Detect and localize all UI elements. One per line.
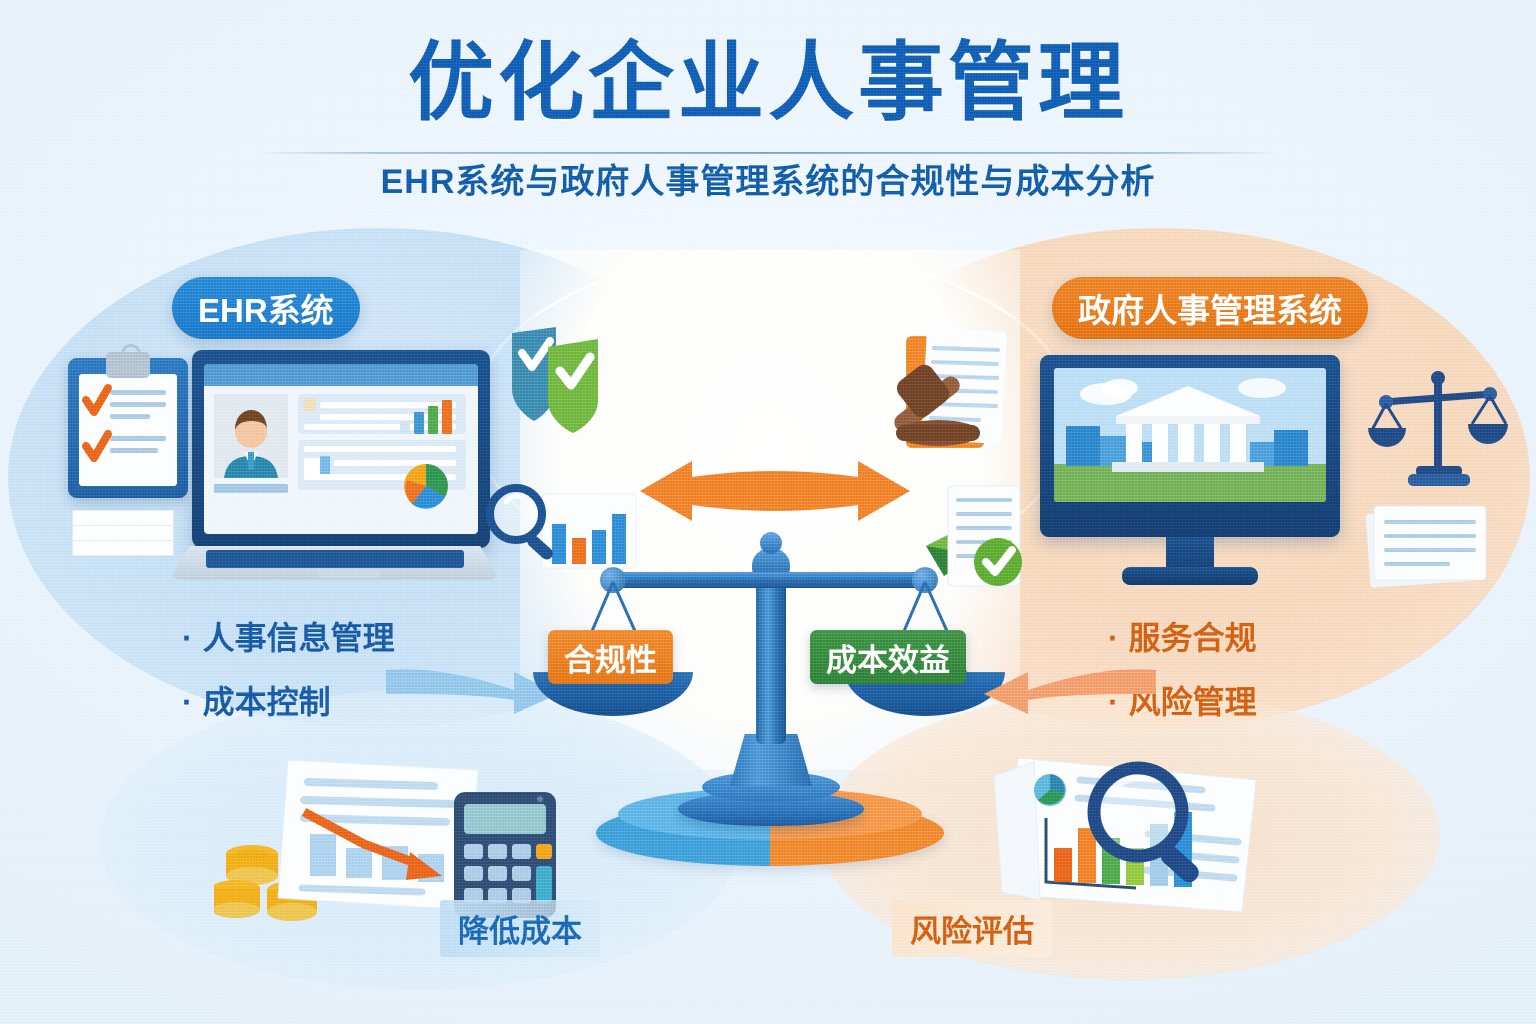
cost-benefit-plate-label: 成本效益 bbox=[826, 635, 950, 680]
shield-check-icon bbox=[498, 325, 628, 435]
monitor-icon bbox=[1040, 355, 1340, 595]
bullet-marker: · bbox=[1108, 622, 1119, 654]
employee-photo-icon bbox=[214, 394, 288, 478]
government-building-icon bbox=[1054, 368, 1326, 502]
page-title: 优化企业人事管理 bbox=[0, 0, 1536, 128]
right-arrow-icon bbox=[382, 660, 562, 722]
cost-benefit-plate[interactable]: 成本效益 bbox=[810, 630, 966, 684]
page-subtitle: EHR系统与政府人事管理系统的合规性与成本分析 bbox=[0, 128, 1536, 203]
bullet-label: 成本控制 bbox=[203, 684, 331, 720]
magnifier-icon bbox=[1078, 756, 1208, 896]
list-item: ·成本控制 bbox=[182, 686, 395, 718]
gavel-icon bbox=[880, 355, 1010, 475]
caption-risk-assessment: 风险评估 bbox=[892, 900, 1052, 957]
list-item: ·服务合规 bbox=[1108, 622, 1257, 654]
paper-stack-icon bbox=[1362, 500, 1492, 592]
caption-risk-assessment-label: 风险评估 bbox=[910, 914, 1034, 949]
bullet-marker: · bbox=[182, 686, 193, 718]
balance-scale-icon: 合规性 成本效益 bbox=[560, 520, 980, 860]
laptop-icon bbox=[170, 350, 500, 590]
badge-government-system[interactable]: 政府人事管理系统 bbox=[1052, 277, 1368, 339]
badge-government-label: 政府人事管理系统 bbox=[1078, 284, 1342, 332]
document-check-icon bbox=[920, 480, 1040, 600]
scales-of-justice-icon bbox=[1368, 368, 1508, 498]
left-bullet-list: ·人事信息管理 ·成本控制 bbox=[182, 622, 395, 750]
magnifier-icon bbox=[478, 478, 570, 570]
badge-ehr-label: EHR系统 bbox=[198, 284, 334, 332]
caption-reduce-cost: 降低成本 bbox=[440, 900, 600, 957]
infographic-canvas: 优化企业人事管理 EHR系统与政府人事管理系统的合规性与成本分析 bbox=[0, 0, 1536, 1024]
caption-reduce-cost-label: 降低成本 bbox=[458, 914, 582, 949]
pie-chart-icon bbox=[400, 460, 452, 512]
header: 优化企业人事管理 EHR系统与政府人事管理系统的合规性与成本分析 bbox=[0, 0, 1536, 220]
compliance-plate-label: 合规性 bbox=[564, 635, 657, 680]
compliance-plate[interactable]: 合规性 bbox=[548, 630, 673, 684]
list-item: ·人事信息管理 bbox=[182, 622, 395, 654]
double-arrow-icon bbox=[640, 455, 910, 527]
bullet-label: 人事信息管理 bbox=[203, 620, 395, 656]
bullet-marker: · bbox=[182, 622, 193, 654]
badge-ehr-system[interactable]: EHR系统 bbox=[172, 277, 360, 339]
title-divider bbox=[258, 152, 1278, 154]
paper-stack-icon bbox=[72, 510, 177, 566]
bullet-label: 服务合规 bbox=[1129, 620, 1257, 656]
left-arrow-icon bbox=[980, 660, 1160, 722]
